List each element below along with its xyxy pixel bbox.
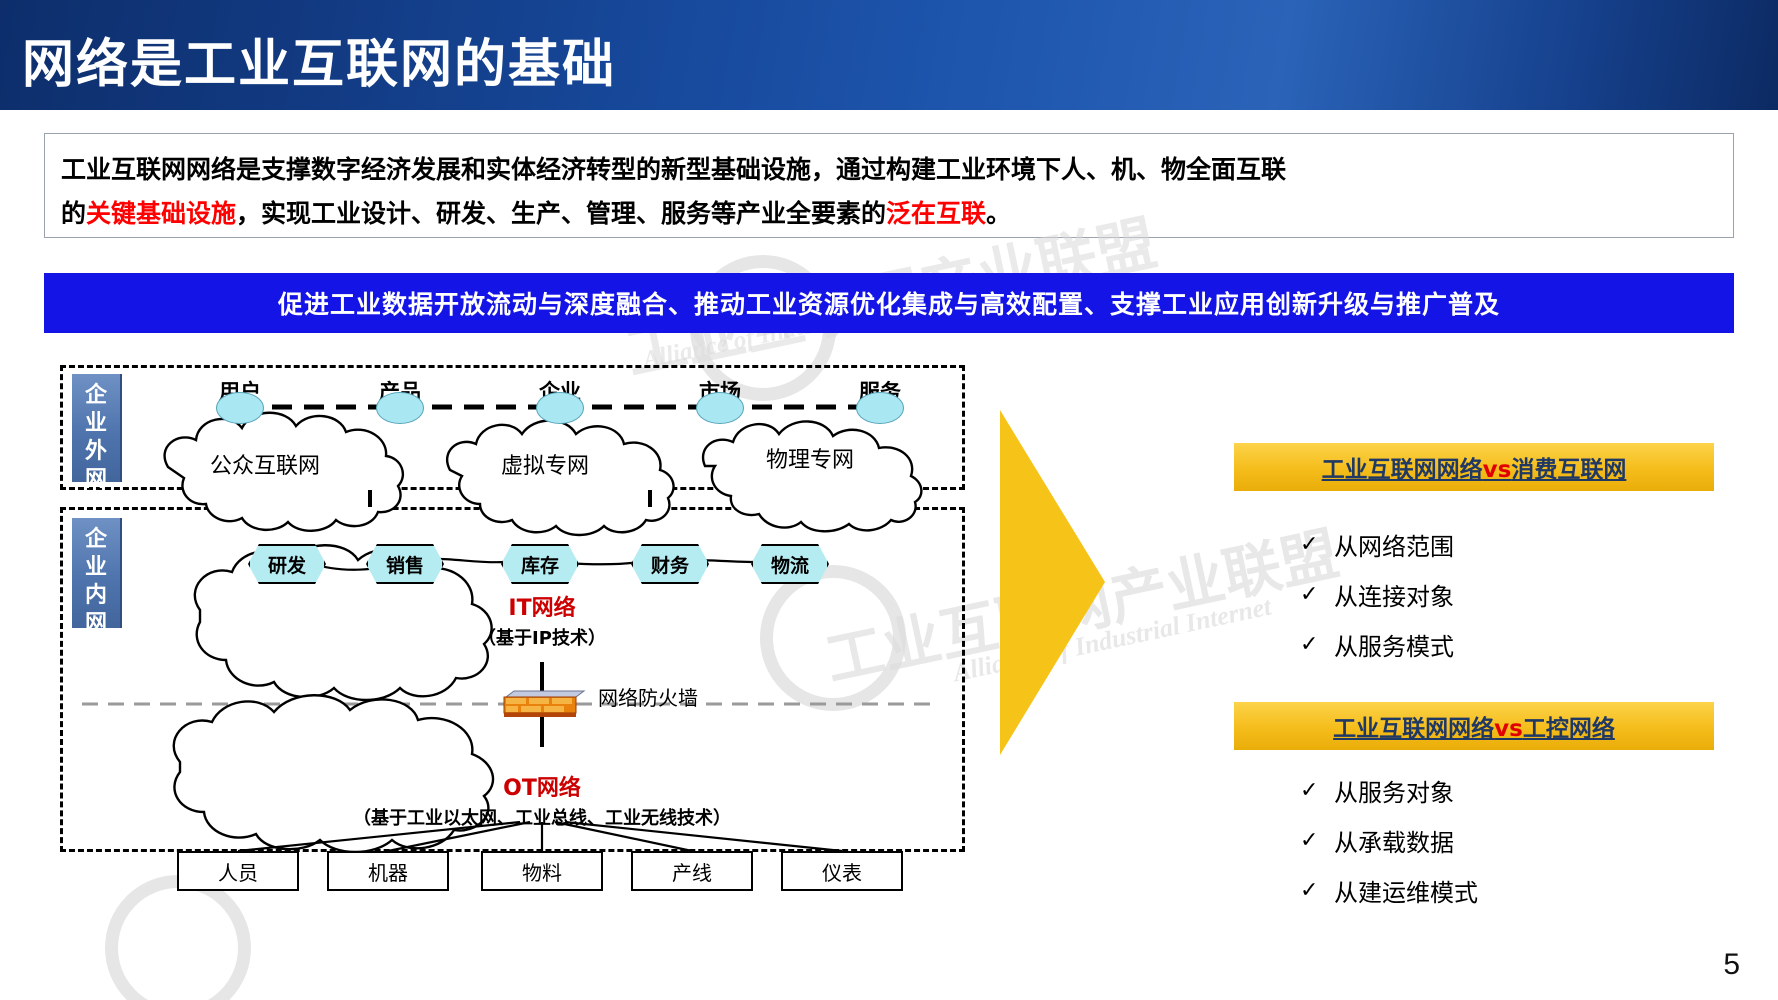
it-network-subtitle: （基于IP技术） (478, 624, 606, 650)
node-service-dot-icon (856, 392, 904, 424)
it-network-title-group: IT网络 （基于IP技术） (478, 590, 606, 650)
intro-line2-part-b: ，实现工业设计、研发、生产、管理、服务等产业全要素的 (236, 199, 886, 228)
comparison-header-consumer-internet-text: 工业互联网网络vs消费互联网 (1322, 450, 1627, 484)
check-icon-2: ✓ (1300, 582, 1334, 607)
slide-header-bar: 网络是工业互联网的基础 (0, 0, 1778, 110)
check-icon-4: ✓ (1300, 778, 1334, 803)
intro-line2-part-c: 。 (986, 199, 1011, 228)
cloud-label-public-internet: 公众互联网 (210, 448, 320, 480)
bullet-connected-objects: ✓ 从连接对象 (1300, 577, 1454, 612)
bullet-network-scope: ✓ 从网络范围 (1300, 527, 1454, 562)
slide: 网络是工业互联网的基础 工业互联网网络是支撑数字经济发展和实体经济转型的新型基础… (0, 0, 1778, 1000)
check-icon-3: ✓ (1300, 632, 1334, 657)
cloud-label-physical-private-network: 物理专网 (766, 442, 854, 474)
hex-inventory: 库存 (501, 544, 579, 584)
cmp2-title-a: 工业互联网网络 (1333, 716, 1494, 742)
firewall-icon (498, 685, 584, 719)
ot-network-title: OT网络 (353, 770, 731, 802)
check-icon-6: ✓ (1300, 878, 1334, 903)
node-enterprise-dot-icon (536, 392, 584, 424)
yellow-arrow-icon (1000, 410, 1105, 755)
key-message-banner: 促进工业数据开放流动与深度融合、推动工业资源优化集成与高效配置、支撑工业应用创新… (44, 273, 1734, 333)
hex-sales: 销售 (366, 544, 444, 584)
watermark-gear-icon-bottom (105, 875, 251, 1000)
check-icon-1: ✓ (1300, 532, 1334, 557)
intro-highlight-ubiquitous-connection: 泛在互联 (886, 199, 986, 228)
leaf-box-personnel: 人员 (177, 851, 299, 891)
leaf-box-machine: 机器 (327, 851, 449, 891)
leaf-box-instrument: 仪表 (781, 851, 903, 891)
cmp2-title-b: 工控网络 (1523, 716, 1615, 742)
bullet-service-model-label: 从服务模式 (1334, 627, 1454, 662)
intro-line-2: 的关键基础设施，实现工业设计、研发、生产、管理、服务等产业全要素的泛在互联。 (61, 192, 1717, 236)
intro-highlight-key-infrastructure: 关键基础设施 (86, 199, 236, 228)
comparison-header-industrial-control-network-text: 工业互联网网络vs工控网络 (1333, 709, 1615, 743)
bullet-connected-objects-label: 从连接对象 (1334, 577, 1454, 612)
cmp2-title-vs: vs (1494, 716, 1523, 742)
cloud-label-virtual-private-network: 虚拟专网 (501, 448, 589, 480)
bullet-service-model: ✓ 从服务模式 (1300, 627, 1454, 662)
ot-network-title-group: OT网络 （基于工业以太网、工业总线、工业无线技术） (353, 770, 731, 830)
firewall-label: 网络防火墙 (598, 682, 698, 711)
bullet-service-object-label: 从服务对象 (1334, 773, 1454, 808)
cloud-physical-private-network (703, 421, 921, 531)
bullet-network-scope-label: 从网络范围 (1334, 527, 1454, 562)
page-title: 网络是工业互联网的基础 (22, 22, 616, 97)
network-architecture-diagram: 企 业 外 网 企 业 内 网 (50, 362, 1060, 872)
cmp1-title-b: 消费互联网 (1511, 457, 1626, 483)
intro-line2-part-a: 的 (61, 199, 86, 228)
intro-line-1: 工业互联网网络是支撑数字经济发展和实体经济转型的新型基础设施，通过构建工业环境下… (61, 148, 1717, 192)
bullet-carried-data: ✓ 从承载数据 (1300, 823, 1454, 858)
node-market-dot-icon (696, 392, 744, 424)
intro-textbox: 工业互联网网络是支撑数字经济发展和实体经济转型的新型基础设施，通过构建工业环境下… (44, 133, 1734, 238)
hex-finance: 财务 (631, 544, 709, 584)
it-network-title: IT网络 (478, 590, 606, 622)
node-user-dot-icon (216, 392, 264, 424)
node-product-dot-icon (376, 392, 424, 424)
ot-network-subtitle: （基于工业以太网、工业总线、工业无线技术） (353, 804, 731, 830)
bullet-build-operate-maintain-model-label: 从建运维模式 (1334, 873, 1478, 908)
bullet-carried-data-label: 从承载数据 (1334, 823, 1454, 858)
comparison-header-consumer-internet: 工业互联网网络vs消费互联网 (1234, 443, 1714, 491)
leaf-box-production-line: 产线 (631, 851, 753, 891)
key-message-banner-text: 促进工业数据开放流动与深度融合、推动工业资源优化集成与高效配置、支撑工业应用创新… (278, 285, 1500, 321)
cmp1-title-vs: vs (1483, 457, 1512, 483)
hex-rd: 研发 (248, 544, 326, 584)
cmp1-title-a: 工业互联网网络 (1322, 457, 1483, 483)
hex-logistics: 物流 (751, 544, 829, 584)
comparison-header-industrial-control-network: 工业互联网网络vs工控网络 (1234, 702, 1714, 750)
page-number: 5 (1723, 948, 1740, 982)
leaf-box-material: 物料 (481, 851, 603, 891)
bullet-build-operate-maintain-model: ✓ 从建运维模式 (1300, 873, 1478, 908)
check-icon-5: ✓ (1300, 828, 1334, 853)
bullet-service-object: ✓ 从服务对象 (1300, 773, 1454, 808)
